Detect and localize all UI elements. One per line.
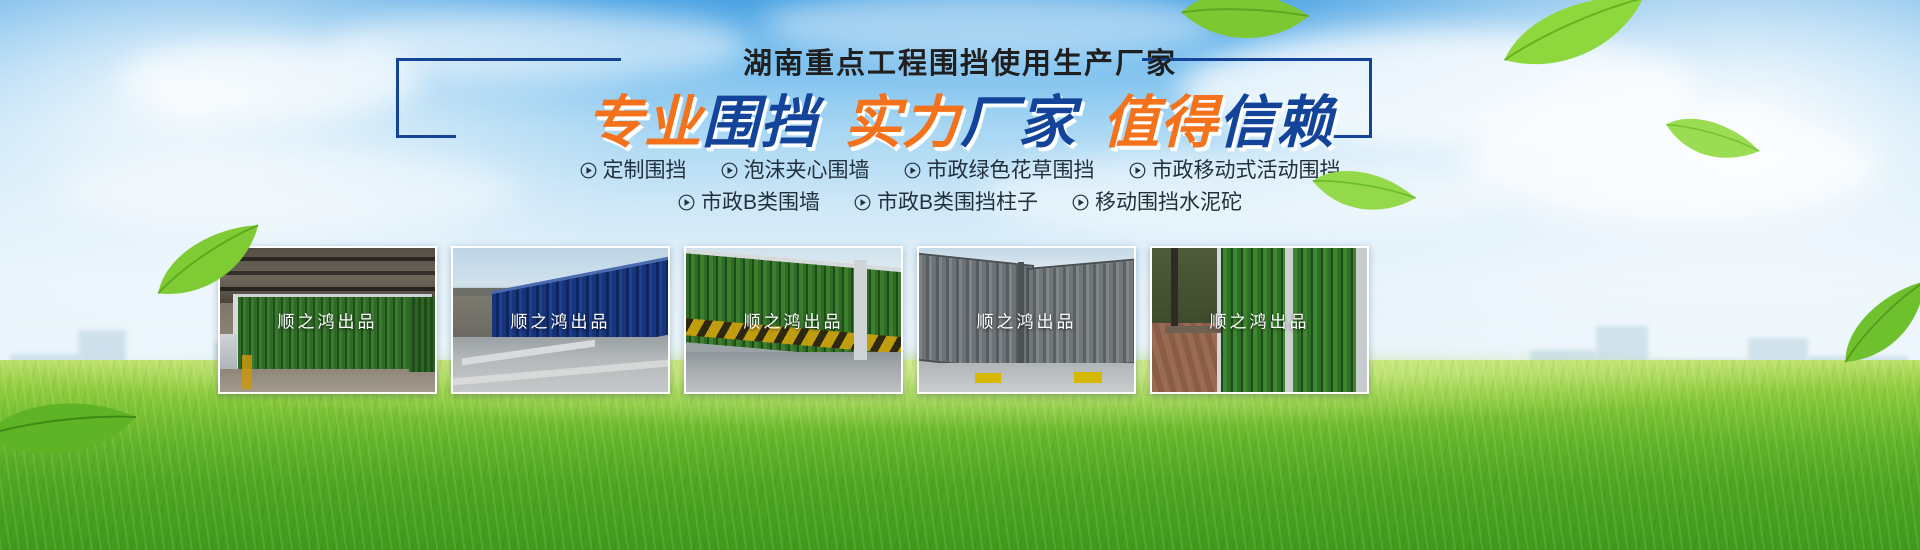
photo-card[interactable]: 顺之鸿出品 (917, 246, 1136, 394)
headline-word-3-blue: 信赖 (1218, 95, 1334, 152)
photo-image (686, 248, 901, 392)
headline-word-2-orange: 实力 (844, 95, 960, 152)
feature-item[interactable]: 定制围挡 (580, 160, 687, 181)
feature-list: 定制围挡 泡沫夹心围墙 市政绿色花草围挡 (0, 160, 1920, 213)
feature-label: 市政B类围挡柱子 (877, 192, 1038, 213)
photo-image (919, 248, 1134, 392)
photo-card[interactable]: 顺之鸿出品 (684, 246, 903, 394)
feature-label: 定制围挡 (603, 160, 687, 181)
headline-word-3-orange: 值得 (1102, 95, 1218, 152)
play-circle-icon (854, 194, 871, 211)
feature-row-2: 市政B类围墙 市政B类围挡柱子 移动围挡水泥砣 (0, 192, 1920, 213)
photo-card[interactable]: 顺之鸿出品 (451, 246, 670, 394)
feature-item[interactable]: 泡沫夹心围墙 (721, 160, 870, 181)
feature-label: 移动围挡水泥砣 (1095, 192, 1242, 213)
photo-card[interactable]: 顺之鸿出品 (1150, 246, 1369, 394)
headline-word-1-blue: 围挡 (702, 95, 818, 152)
feature-item[interactable]: 市政移动式活动围挡 (1129, 160, 1341, 181)
feature-label: 市政绿色花草围挡 (927, 160, 1095, 181)
feature-item[interactable]: 市政B类围挡柱子 (854, 192, 1038, 213)
play-circle-icon (721, 162, 738, 179)
play-circle-icon (1129, 162, 1146, 179)
play-circle-icon (1072, 194, 1089, 211)
photo-image (453, 248, 668, 392)
feature-item[interactable]: 市政绿色花草围挡 (904, 160, 1095, 181)
feature-item[interactable]: 移动围挡水泥砣 (1072, 192, 1242, 213)
play-circle-icon (678, 194, 695, 211)
headline-word-2-blue: 厂家 (960, 95, 1076, 152)
photo-image (1152, 248, 1367, 392)
headline-word-1-orange: 专业 (586, 95, 702, 152)
feature-label: 泡沫夹心围墙 (744, 160, 870, 181)
feature-item[interactable]: 市政B类围墙 (678, 192, 820, 213)
play-circle-icon (904, 162, 921, 179)
feature-label: 市政B类围墙 (701, 192, 820, 213)
promo-banner: 湖南重点工程围挡使用生产厂家 专业围挡实力厂家值得信赖 定制围挡 泡沫夹心围墙 (0, 0, 1920, 550)
banner-headline: 专业围挡实力厂家值得信赖 (0, 95, 1920, 152)
play-circle-icon (580, 162, 597, 179)
photo-strip: 顺之鸿出品 顺之鸿出品 (218, 246, 1708, 394)
feature-row-1: 定制围挡 泡沫夹心围墙 市政绿色花草围挡 (0, 160, 1920, 181)
